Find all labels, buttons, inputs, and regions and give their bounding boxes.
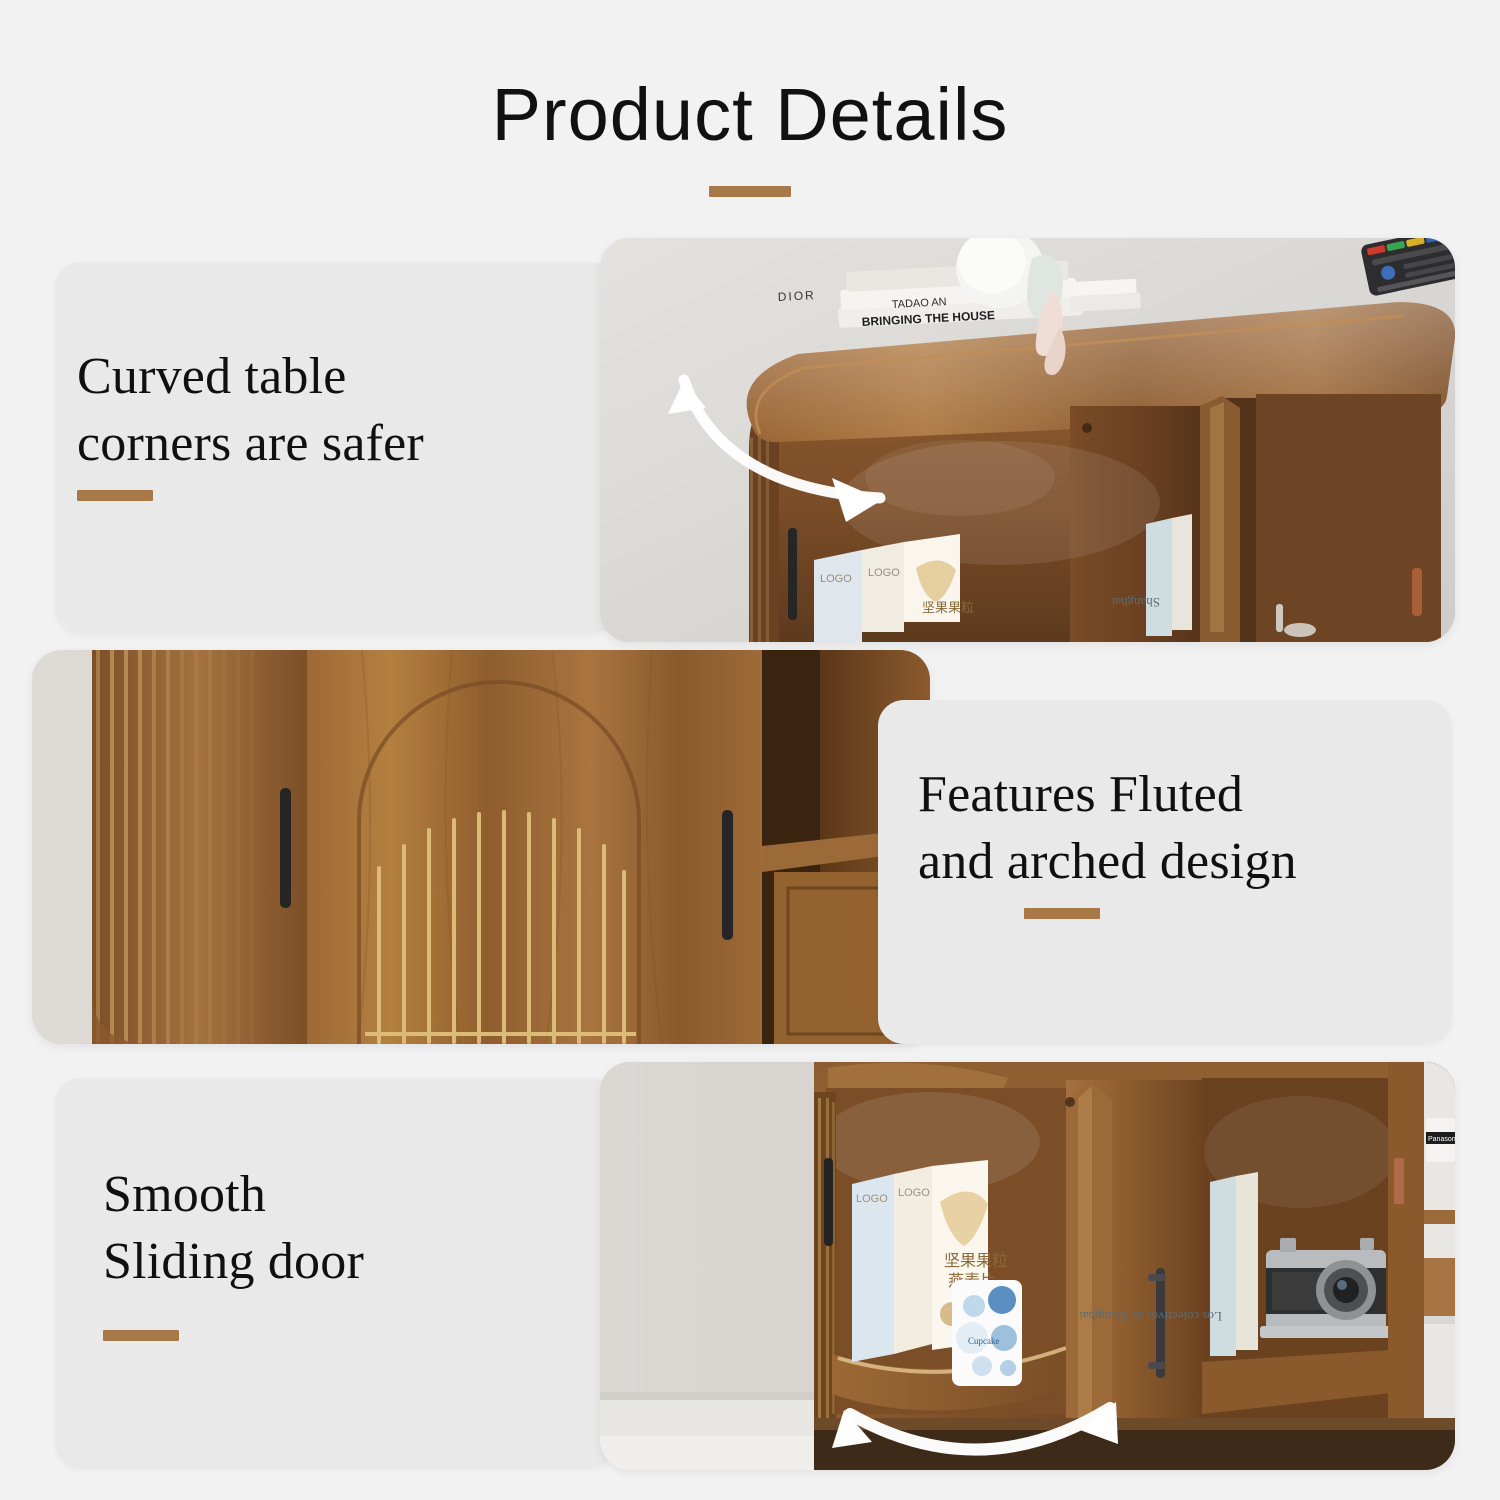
page-title: Product Details <box>0 78 1500 152</box>
caption-accent-bar <box>103 1330 179 1341</box>
svg-text:LOGO: LOGO <box>820 573 852 585</box>
feature-photo-fluted-arched: Panasonic <box>32 650 930 1044</box>
svg-text:坚果果粒: 坚果果粒 <box>922 600 974 615</box>
svg-text:LOGO: LOGO <box>898 1187 930 1199</box>
svg-text:坚果果粒: 坚果果粒 <box>944 1252 1008 1270</box>
feature-caption: Curved table corners are safer <box>77 344 597 477</box>
feature-photo-curved-corners: TADAO AN BRINGING THE HOUSE DIOR <box>600 238 1455 642</box>
feature-photo-sliding-door: LOGO LOGO 坚果果粒 燕麦片 Cupcake <box>600 1062 1455 1470</box>
feature-caption: Features Fluted and arched design <box>918 762 1438 895</box>
svg-text:LOGO: LOGO <box>856 1193 888 1205</box>
product-details-page: Product Details Curved table corners are… <box>0 0 1500 1500</box>
page-header: Product Details <box>0 78 1500 197</box>
vintage-camera <box>1260 1238 1392 1338</box>
svg-text:Cupcake: Cupcake <box>968 1336 1000 1346</box>
feature-card-curved-corners: Curved table corners are safer <box>55 262 615 634</box>
svg-text:LOGO: LOGO <box>868 567 900 579</box>
caption-accent-bar <box>1024 908 1100 919</box>
book-text-interior: Shanghai <box>1111 595 1160 610</box>
feature-card-fluted-arched: Features Fluted and arched design <box>878 700 1452 1044</box>
feature-caption: Smooth Sliding door <box>103 1162 603 1295</box>
book-spine-text: DIOR <box>777 288 816 304</box>
book-text-sliding: Los colectivos de Shanghai <box>1079 1309 1222 1324</box>
feature-card-sliding-door: Smooth Sliding door <box>55 1078 615 1468</box>
caption-accent-bar <box>77 490 153 501</box>
svg-text:Panasonic: Panasonic <box>1428 1136 1455 1143</box>
title-accent-bar <box>709 186 791 197</box>
printed-mug: Cupcake <box>952 1280 1022 1386</box>
product-box-right: Panasonic <box>1426 1118 1455 1162</box>
